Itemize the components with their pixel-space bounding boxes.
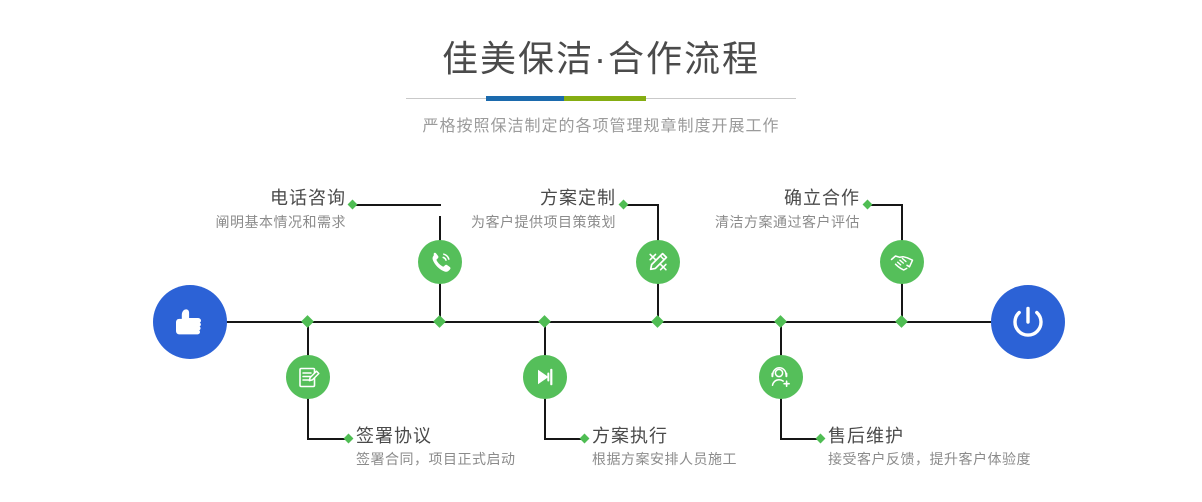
step-5-title: 确立合作 — [628, 187, 860, 210]
step-6-axis-diamond — [774, 315, 787, 328]
step-6-desc: 接受客户反馈，提升客户体验度 — [828, 449, 1168, 471]
step-4-node-icon — [523, 355, 567, 399]
step-4-axis-diamond — [538, 315, 551, 328]
timeline-end-endpoint — [991, 285, 1065, 359]
cooperation-process-infographic: 佳美保洁·合作流程 严格按照保洁制定的各项管理规章制度开展工作 — [0, 0, 1202, 502]
handshake-icon — [889, 249, 915, 275]
pointing-hand-icon — [170, 302, 210, 342]
timeline-start-endpoint — [153, 285, 227, 359]
step-3-axis-diamond — [651, 315, 664, 328]
step-5-label: 确立合作 清洁方案通过客户评估 — [628, 187, 860, 233]
step-2-axis-diamond — [301, 315, 314, 328]
process-timeline: 电话咨询 阐明基本情况和需求 签署协议 签署合同，项目正式启动 — [0, 0, 1202, 502]
step-2-label-diamond — [344, 434, 354, 444]
power-icon — [1007, 301, 1049, 343]
step-1-node-icon — [418, 240, 462, 284]
step-5-label-diamond — [863, 200, 873, 210]
step-3-label-diamond — [619, 200, 629, 210]
step-5-node-icon — [880, 240, 924, 284]
step-1-axis-diamond — [433, 315, 446, 328]
step-3-arm — [626, 204, 659, 206]
step-6-label: 售后维护 接受客户反馈，提升客户体验度 — [828, 425, 1168, 470]
play-execute-icon — [532, 364, 558, 390]
phone-call-icon — [427, 249, 453, 275]
step-6-node-icon — [759, 355, 803, 399]
step-5-arm — [870, 204, 903, 206]
step-1-label: 电话咨询 阐明基本情况和需求 — [100, 187, 346, 233]
timeline-axis — [155, 321, 1045, 323]
step-5-desc: 清洁方案通过客户评估 — [628, 212, 860, 234]
step-1-desc: 阐明基本情况和需求 — [100, 212, 346, 234]
step-6-title: 售后维护 — [828, 425, 1168, 448]
step-3-node-icon — [636, 240, 680, 284]
step-1-label-diamond — [348, 200, 358, 210]
step-2-node-icon — [286, 355, 330, 399]
step-1-arm — [356, 204, 441, 206]
pencil-design-icon — [645, 249, 671, 275]
headset-support-icon — [768, 364, 794, 390]
document-edit-icon — [296, 365, 321, 390]
step-5-axis-diamond — [895, 315, 908, 328]
step-3-title: 方案定制 — [380, 187, 616, 210]
step-1-title: 电话咨询 — [100, 187, 346, 210]
step-3-desc: 为客户提供项目策策划 — [380, 212, 616, 234]
step-3-label: 方案定制 为客户提供项目策策划 — [380, 187, 616, 233]
